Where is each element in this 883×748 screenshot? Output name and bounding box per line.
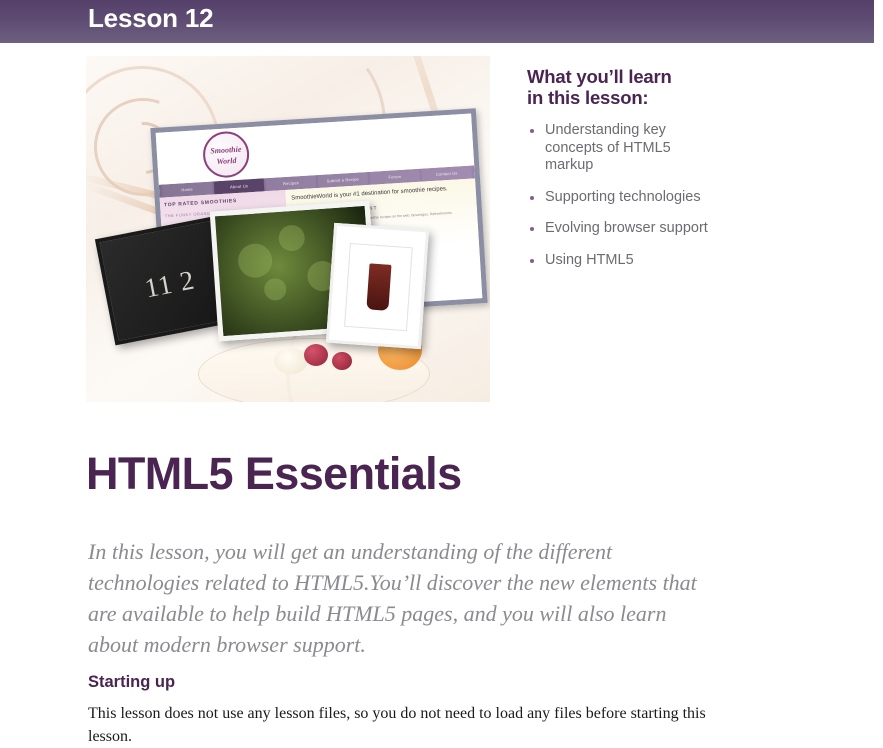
- raspberry-fruit: [304, 344, 328, 366]
- lesson-number-title: Lesson 12: [88, 3, 213, 34]
- cream-fruit: [274, 348, 308, 374]
- list-item: Using HTML5: [527, 252, 717, 270]
- learning-objectives-list: Understanding key concepts of HTML5 mark…: [527, 122, 717, 269]
- lesson-opener-image: Smoothie World Home About Us Recipes Sub…: [86, 56, 490, 402]
- lesson-intro-paragraph: In this lesson, you will get an understa…: [88, 536, 713, 660]
- raspberry-fruit: [332, 352, 352, 370]
- what-youll-learn-heading: What you’ll learn in this lesson:: [527, 66, 717, 108]
- photo-blob: [237, 243, 273, 279]
- what-youll-learn-panel: What you’ll learn in this lesson: Unders…: [527, 66, 717, 283]
- heading-line-2: in this lesson:: [527, 87, 717, 108]
- photo-frame-inner: [344, 243, 413, 331]
- list-item: Evolving browser support: [527, 220, 717, 238]
- smoothieworld-logo: Smoothie World: [202, 130, 251, 179]
- page-title: HTML5 Essentials: [86, 448, 462, 500]
- smoothie-glass-shape: [366, 263, 391, 310]
- list-item: Supporting technologies: [527, 189, 717, 207]
- framed-glass-photo: [326, 223, 429, 349]
- lesson-header-bar: Lesson 12: [0, 0, 874, 43]
- starting-up-body: This lesson does not use any lesson file…: [88, 702, 728, 748]
- photo-blob: [263, 278, 286, 301]
- photo-blob: [278, 224, 306, 252]
- heading-line-1: What you’ll learn: [527, 66, 717, 87]
- starting-up-heading: Starting up: [88, 673, 175, 692]
- list-item: Understanding key concepts of HTML5 mark…: [527, 122, 717, 175]
